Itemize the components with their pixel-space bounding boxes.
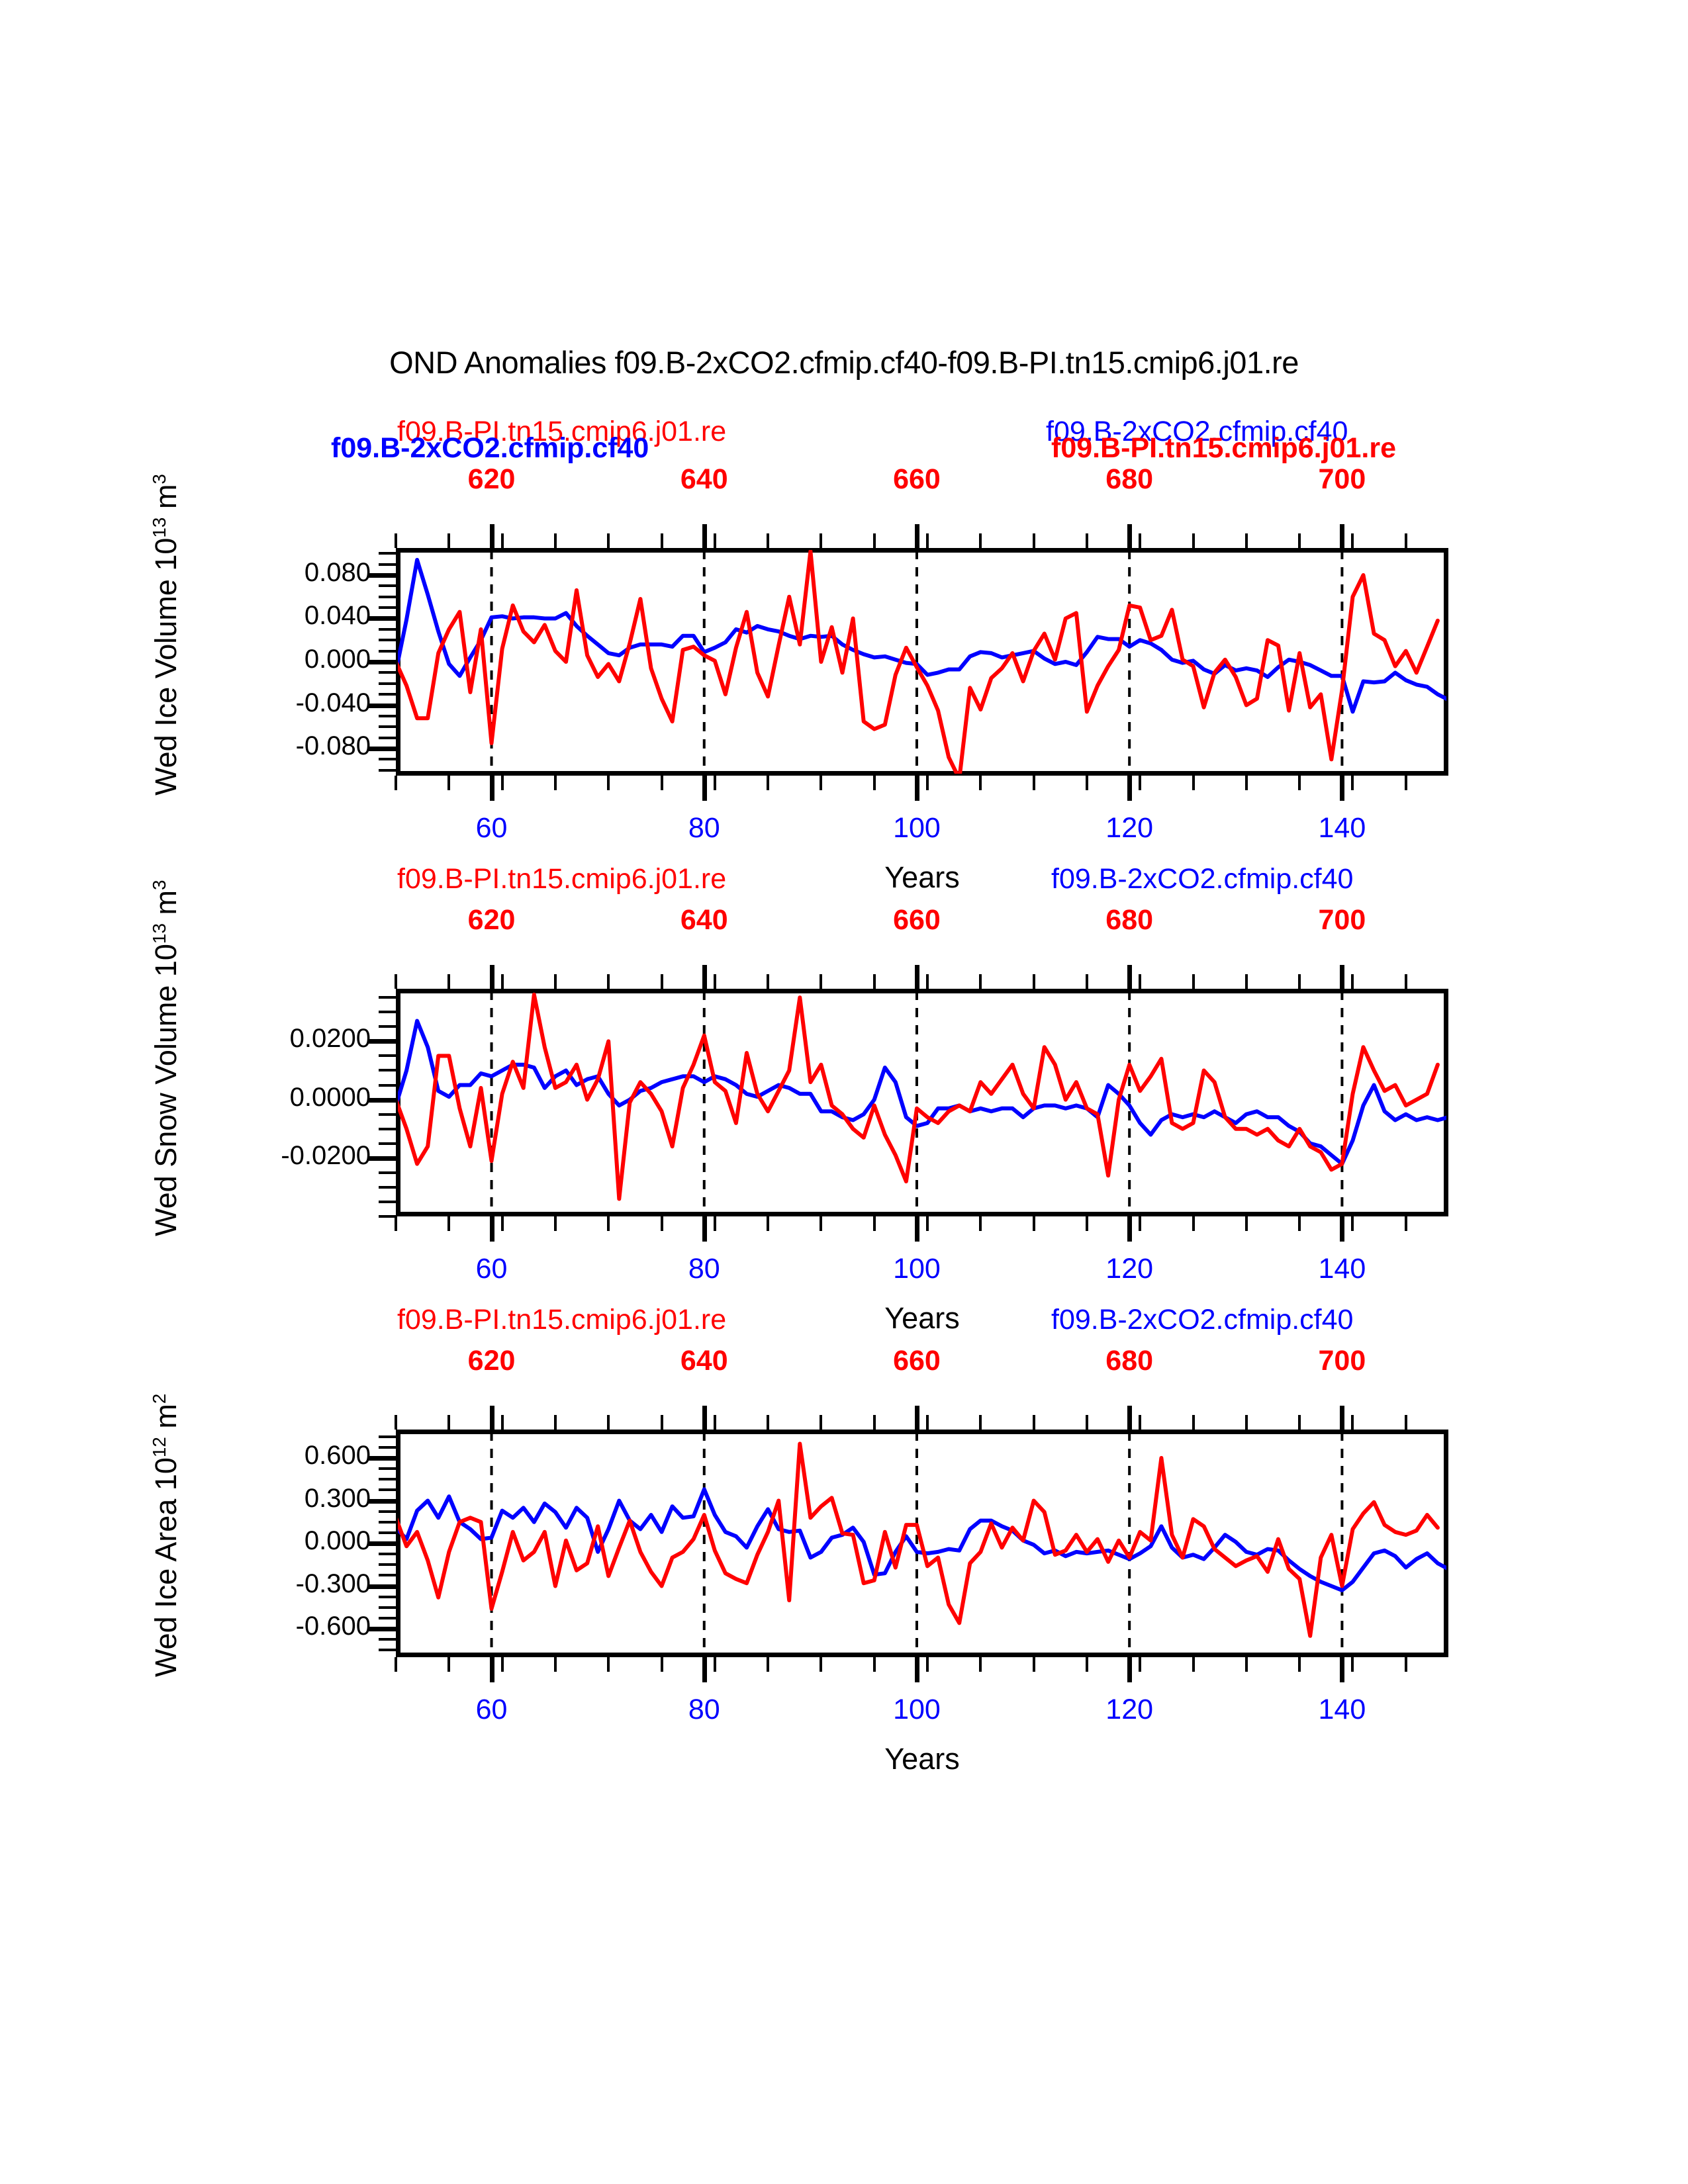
figure-root: OND Anomalies f09.B-2xCO2.cfmip.cf40-f09… (0, 0, 1688, 2184)
plot-canvas (0, 0, 1688, 2184)
